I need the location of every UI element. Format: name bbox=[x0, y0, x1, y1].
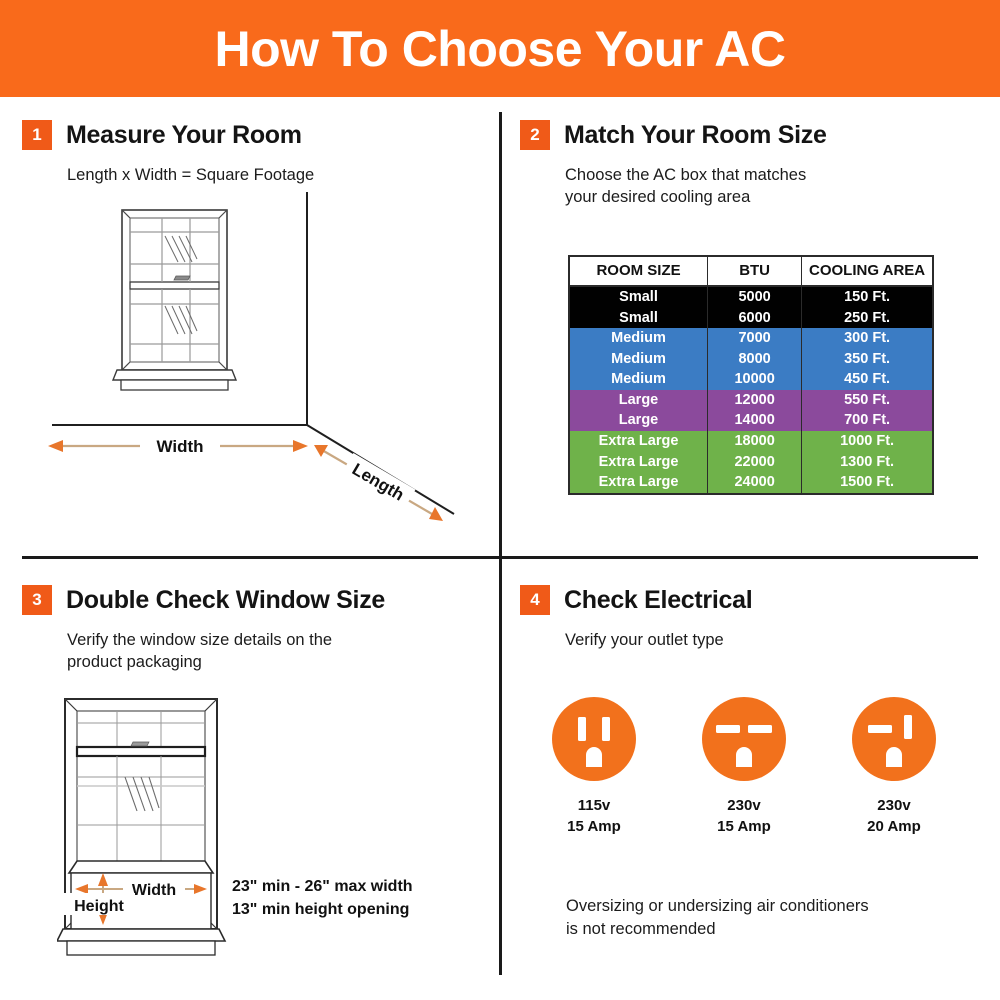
window-note-height: 13" min height opening bbox=[232, 898, 413, 921]
length-dimension-arrow: Length bbox=[314, 445, 443, 521]
outlet-230v-15amp-caption: 230v 15 Amp bbox=[717, 795, 771, 837]
table-row: Medium8000350 Ft. bbox=[570, 349, 932, 370]
table-header-row: ROOM SIZE BTU COOLING AREA bbox=[570, 257, 932, 286]
step-3-subtitle: Verify the window size details on thepro… bbox=[67, 629, 492, 674]
btu-table-body: Small5000150 Ft.Small6000250 Ft.Medium70… bbox=[570, 286, 932, 492]
cell-room-size: Small bbox=[570, 286, 708, 308]
cell-cooling-area: 1300 Ft. bbox=[802, 452, 932, 473]
step-1-subtitle: Length x Width = Square Footage bbox=[67, 164, 492, 186]
cell-btu: 7000 bbox=[708, 328, 802, 349]
outlet-voltage: 230v bbox=[717, 795, 771, 816]
step-number-badge-2: 2 bbox=[520, 120, 550, 150]
step-3-title: Double Check Window Size bbox=[66, 586, 385, 615]
cell-btu: 6000 bbox=[708, 308, 802, 329]
page-title: How To Choose Your AC bbox=[215, 20, 786, 78]
room-corner-lines bbox=[52, 192, 454, 514]
outlet-amperage: 15 Amp bbox=[567, 816, 621, 837]
outlet-115v-15amp-icon bbox=[550, 695, 638, 783]
cell-btu: 10000 bbox=[708, 369, 802, 390]
table-row: Large12000550 Ft. bbox=[570, 390, 932, 411]
step-number-badge-3: 3 bbox=[22, 585, 52, 615]
width-label: Width bbox=[156, 437, 203, 456]
room-measurement-diagram: Width Length bbox=[22, 192, 492, 522]
column-header-room-size: ROOM SIZE bbox=[570, 257, 708, 286]
step-4-title: Check Electrical bbox=[564, 586, 752, 615]
column-header-cooling-area: COOLING AREA bbox=[802, 257, 932, 286]
cell-btu: 14000 bbox=[708, 410, 802, 431]
cell-btu: 22000 bbox=[708, 452, 802, 473]
cell-btu: 18000 bbox=[708, 431, 802, 452]
table-row: Extra Large240001500 Ft. bbox=[570, 472, 932, 493]
outlet-115v-15amp-caption: 115v 15 Amp bbox=[567, 795, 621, 837]
outlet-voltage: 115v bbox=[567, 795, 621, 816]
outlet-type-list: 115v 15 Amp 230v 15 Amp bbox=[548, 695, 968, 837]
outlet-option-230v-20amp[interactable]: 230v 20 Amp bbox=[848, 695, 940, 837]
step-3-header: 3 Double Check Window Size bbox=[22, 585, 492, 615]
step-panel-check-electrical: 4 Check Electrical Verify your outlet ty… bbox=[520, 585, 980, 975]
window-note-width: 23" min - 26" max width bbox=[232, 875, 413, 898]
outlet-230v-20amp-icon bbox=[850, 695, 938, 783]
cell-room-size: Extra Large bbox=[570, 472, 708, 493]
outlet-amperage: 20 Amp bbox=[867, 816, 921, 837]
cell-cooling-area: 150 Ft. bbox=[802, 286, 932, 308]
step-2-header: 2 Match Your Room Size bbox=[520, 120, 980, 150]
vertical-divider bbox=[499, 112, 502, 975]
outlet-voltage: 230v bbox=[867, 795, 921, 816]
outlet-option-230v-15amp[interactable]: 230v 15 Amp bbox=[698, 695, 790, 837]
cell-cooling-area: 250 Ft. bbox=[802, 308, 932, 329]
outlet-amperage: 15 Amp bbox=[717, 816, 771, 837]
step-1-title: Measure Your Room bbox=[66, 121, 302, 150]
window-measurement-diagram: Width Height bbox=[57, 693, 257, 963]
cell-cooling-area: 700 Ft. bbox=[802, 410, 932, 431]
cell-btu: 8000 bbox=[708, 349, 802, 370]
outlet-option-115v-15amp[interactable]: 115v 15 Amp bbox=[548, 695, 640, 837]
cell-cooling-area: 550 Ft. bbox=[802, 390, 932, 411]
cell-room-size: Large bbox=[570, 390, 708, 411]
cell-cooling-area: 1500 Ft. bbox=[802, 472, 932, 493]
step-number-badge-1: 1 bbox=[22, 120, 52, 150]
cell-room-size: Extra Large bbox=[570, 431, 708, 452]
cell-btu: 5000 bbox=[708, 286, 802, 308]
cell-room-size: Small bbox=[570, 308, 708, 329]
cell-room-size: Medium bbox=[570, 328, 708, 349]
window-illustration bbox=[113, 210, 236, 390]
width-dimension-arrow: Width bbox=[48, 433, 308, 459]
cell-cooling-area: 300 Ft. bbox=[802, 328, 932, 349]
window-height-label: Height bbox=[74, 898, 124, 915]
step-number-badge-4: 4 bbox=[520, 585, 550, 615]
outlet-230v-20amp-caption: 230v 20 Amp bbox=[867, 795, 921, 837]
step-2-title: Match Your Room Size bbox=[564, 121, 827, 150]
btu-table-container: ROOM SIZE BTU COOLING AREA Small5000150 … bbox=[568, 255, 934, 495]
step-4-header: 4 Check Electrical bbox=[520, 585, 980, 615]
window-width-label: Width bbox=[132, 882, 176, 899]
cell-btu: 24000 bbox=[708, 472, 802, 493]
step-2-subtitle: Choose the AC box that matchesyour desir… bbox=[565, 164, 980, 209]
electrical-sizing-note: Oversizing or undersizing air conditione… bbox=[566, 895, 869, 941]
table-row: Small6000250 Ft. bbox=[570, 308, 932, 329]
step-panel-measure-room: 1 Measure Your Room Length x Width = Squ… bbox=[22, 120, 492, 540]
table-row: Medium7000300 Ft. bbox=[570, 328, 932, 349]
column-header-btu: BTU bbox=[708, 257, 802, 286]
page-header: How To Choose Your AC bbox=[0, 0, 1000, 97]
table-row: Extra Large220001300 Ft. bbox=[570, 452, 932, 473]
cell-cooling-area: 450 Ft. bbox=[802, 369, 932, 390]
table-row: Medium10000450 Ft. bbox=[570, 369, 932, 390]
step-panel-match-room-size: 2 Match Your Room Size Choose the AC box… bbox=[520, 120, 980, 540]
cell-cooling-area: 350 Ft. bbox=[802, 349, 932, 370]
step-4-subtitle: Verify your outlet type bbox=[565, 629, 980, 651]
cell-room-size: Large bbox=[570, 410, 708, 431]
table-row: Extra Large180001000 Ft. bbox=[570, 431, 932, 452]
window-size-notes: 23" min - 26" max width 13" min height o… bbox=[232, 875, 413, 921]
cell-room-size: Medium bbox=[570, 369, 708, 390]
table-row: Large14000700 Ft. bbox=[570, 410, 932, 431]
infographic-page: How To Choose Your AC 1 Measure Your Roo… bbox=[0, 0, 1000, 1000]
cell-cooling-area: 1000 Ft. bbox=[802, 431, 932, 452]
table-row: Small5000150 Ft. bbox=[570, 286, 932, 308]
cell-btu: 12000 bbox=[708, 390, 802, 411]
cell-room-size: Extra Large bbox=[570, 452, 708, 473]
outlet-230v-15amp-icon bbox=[700, 695, 788, 783]
cell-room-size: Medium bbox=[570, 349, 708, 370]
btu-sizing-table: ROOM SIZE BTU COOLING AREA Small5000150 … bbox=[570, 257, 932, 493]
step-1-header: 1 Measure Your Room bbox=[22, 120, 492, 150]
step-panel-window-size: 3 Double Check Window Size Verify the wi… bbox=[22, 585, 492, 975]
